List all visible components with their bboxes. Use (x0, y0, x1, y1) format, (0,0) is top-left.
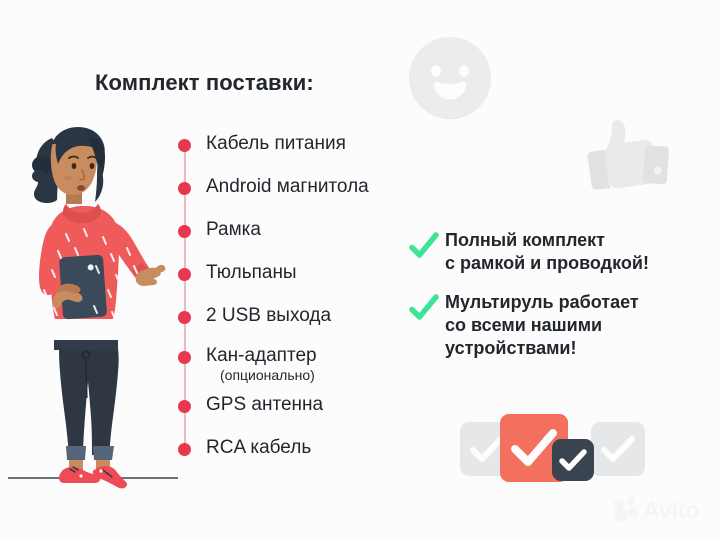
benefit-line-2: с рамкой и проводкой! (445, 253, 649, 273)
bullet-icon (178, 139, 191, 152)
list-item-label: Тюльпаны (206, 259, 297, 287)
avito-watermark: Avito (612, 494, 708, 524)
list-item-label: GPS антенна (206, 391, 323, 419)
bullet-icon (178, 443, 191, 456)
list-item-label: Кабель питания (206, 130, 346, 158)
smiley-face-icon (406, 34, 494, 122)
benefit-text: Полный комплект с рамкой и проводкой! (445, 229, 649, 275)
list-item-label: 2 USB выхода (206, 302, 331, 330)
benefit-text: Мультируль работает со всеми нашими устр… (445, 291, 639, 360)
check-icon (409, 231, 439, 261)
check-icon (409, 293, 439, 323)
checkbox-cards-decoration (458, 398, 648, 498)
svg-text:Avito: Avito (643, 497, 700, 523)
bullet-icon (178, 400, 191, 413)
benefit-line-3: устройствами! (445, 338, 576, 358)
list-item-label: RCA кабель (206, 434, 311, 462)
checkbox-card-gray-right (591, 422, 645, 476)
slide-canvas: Комплект поставки: Кабель питания Androi… (0, 0, 720, 540)
woman-with-tablet-pointing (8, 108, 178, 498)
kit-contents-list: Кабель питания Android магнитола Рамка Т… (176, 130, 426, 460)
checkbox-card-navy (552, 439, 594, 481)
bullet-icon (178, 351, 191, 364)
bullet-icon (178, 225, 191, 238)
benefit-line-2: со всеми нашими (445, 315, 602, 335)
list-item-label: Android магнитола (206, 173, 369, 201)
benefit-line-1: Полный комплект (445, 230, 605, 250)
benefit-line-1: Мультируль работает (445, 292, 639, 312)
list-item-label: Рамка (206, 216, 261, 244)
page-title: Комплект поставки: (95, 70, 314, 96)
list-item-sublabel: (опционально) (220, 366, 315, 384)
bullet-icon (178, 182, 191, 195)
thumbs-up-icon (573, 110, 677, 210)
bullet-icon (178, 311, 191, 324)
bullet-icon (178, 268, 191, 281)
